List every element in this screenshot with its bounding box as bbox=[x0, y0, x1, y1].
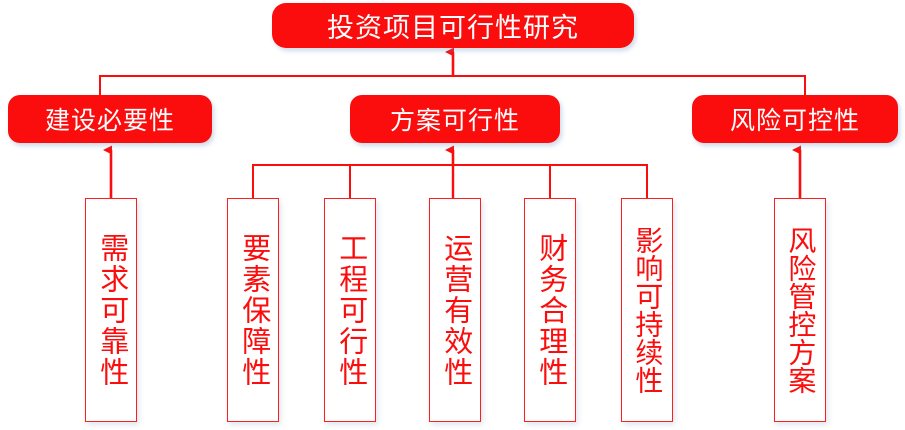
leaf-node-demand-reliability[interactable]: 需求可靠性 bbox=[85, 198, 137, 422]
leaf-node-operational-effectiveness[interactable]: 运营有效性 bbox=[429, 198, 481, 422]
leaf-node-label: 工程可行性 bbox=[332, 233, 367, 388]
leaf-node-engineering-feasibility[interactable]: 工程可行性 bbox=[324, 198, 376, 422]
leaf-node-impact-sustainability[interactable]: 影响可持续性 bbox=[621, 198, 673, 422]
leaf-node-label: 运营有效性 bbox=[437, 233, 472, 388]
leaf-node-financial-rationality[interactable]: 财务合理性 bbox=[524, 198, 576, 422]
branch-node-label: 风险可控性 bbox=[730, 101, 860, 137]
leaf-node-label: 财务合理性 bbox=[532, 233, 567, 388]
branch-node-label: 建设必要性 bbox=[45, 101, 175, 137]
branch-node-construction-necessity[interactable]: 建设必要性 bbox=[8, 95, 212, 143]
root-node[interactable]: 投资项目可行性研究 bbox=[272, 3, 634, 48]
leaf-node-label: 影响可持续性 bbox=[632, 226, 663, 394]
leaf-node-label: 需求可靠性 bbox=[93, 233, 128, 388]
branch-node-risk-controllability[interactable]: 风险可控性 bbox=[692, 95, 898, 143]
leaf-node-label: 风险管控方案 bbox=[785, 226, 816, 394]
leaf-node-element-guarantee[interactable]: 要素保障性 bbox=[227, 198, 279, 422]
root-node-label: 投资项目可行性研究 bbox=[327, 6, 579, 45]
leaf-node-risk-management-plan[interactable]: 风险管控方案 bbox=[774, 198, 826, 422]
branch-node-scheme-feasibility[interactable]: 方案可行性 bbox=[350, 95, 560, 143]
branch-node-label: 方案可行性 bbox=[390, 101, 520, 137]
leaf-node-label: 要素保障性 bbox=[235, 233, 270, 388]
diagram-canvas: 投资项目可行性研究 建设必要性 方案可行性 风险可控性 需求可靠性 要素保障性 … bbox=[0, 0, 905, 430]
middle-bus-connector bbox=[253, 165, 647, 198]
